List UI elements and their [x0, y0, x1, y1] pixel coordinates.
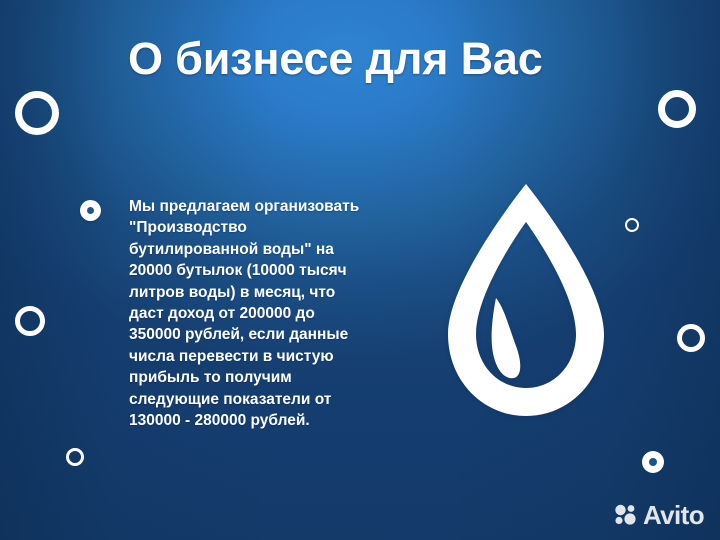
- ring-small-right: [625, 218, 639, 232]
- bullet-text: Мы предлагаем организовать "Производство…: [80, 196, 400, 431]
- ring-bottom-left: [66, 448, 84, 466]
- avito-label: Avito: [643, 502, 704, 528]
- slide-canvas: О бизнесе для Вас Мы предлагаем организо…: [0, 0, 720, 540]
- dot-ring-bottom-right: [642, 451, 664, 473]
- donut-bullet-icon: [80, 200, 101, 221]
- avito-dots-icon: [614, 504, 638, 526]
- ring-mid-left: [15, 306, 45, 336]
- water-drop-icon: [434, 176, 618, 424]
- ring-top-right: [658, 90, 696, 128]
- page-title: О бизнесе для Вас: [128, 33, 543, 85]
- ring-top-left: [15, 91, 59, 135]
- ring-mid-right: [677, 324, 705, 352]
- bullet-item: Мы предлагаем организовать "Производство…: [80, 196, 400, 431]
- avito-watermark: Avito: [614, 502, 704, 528]
